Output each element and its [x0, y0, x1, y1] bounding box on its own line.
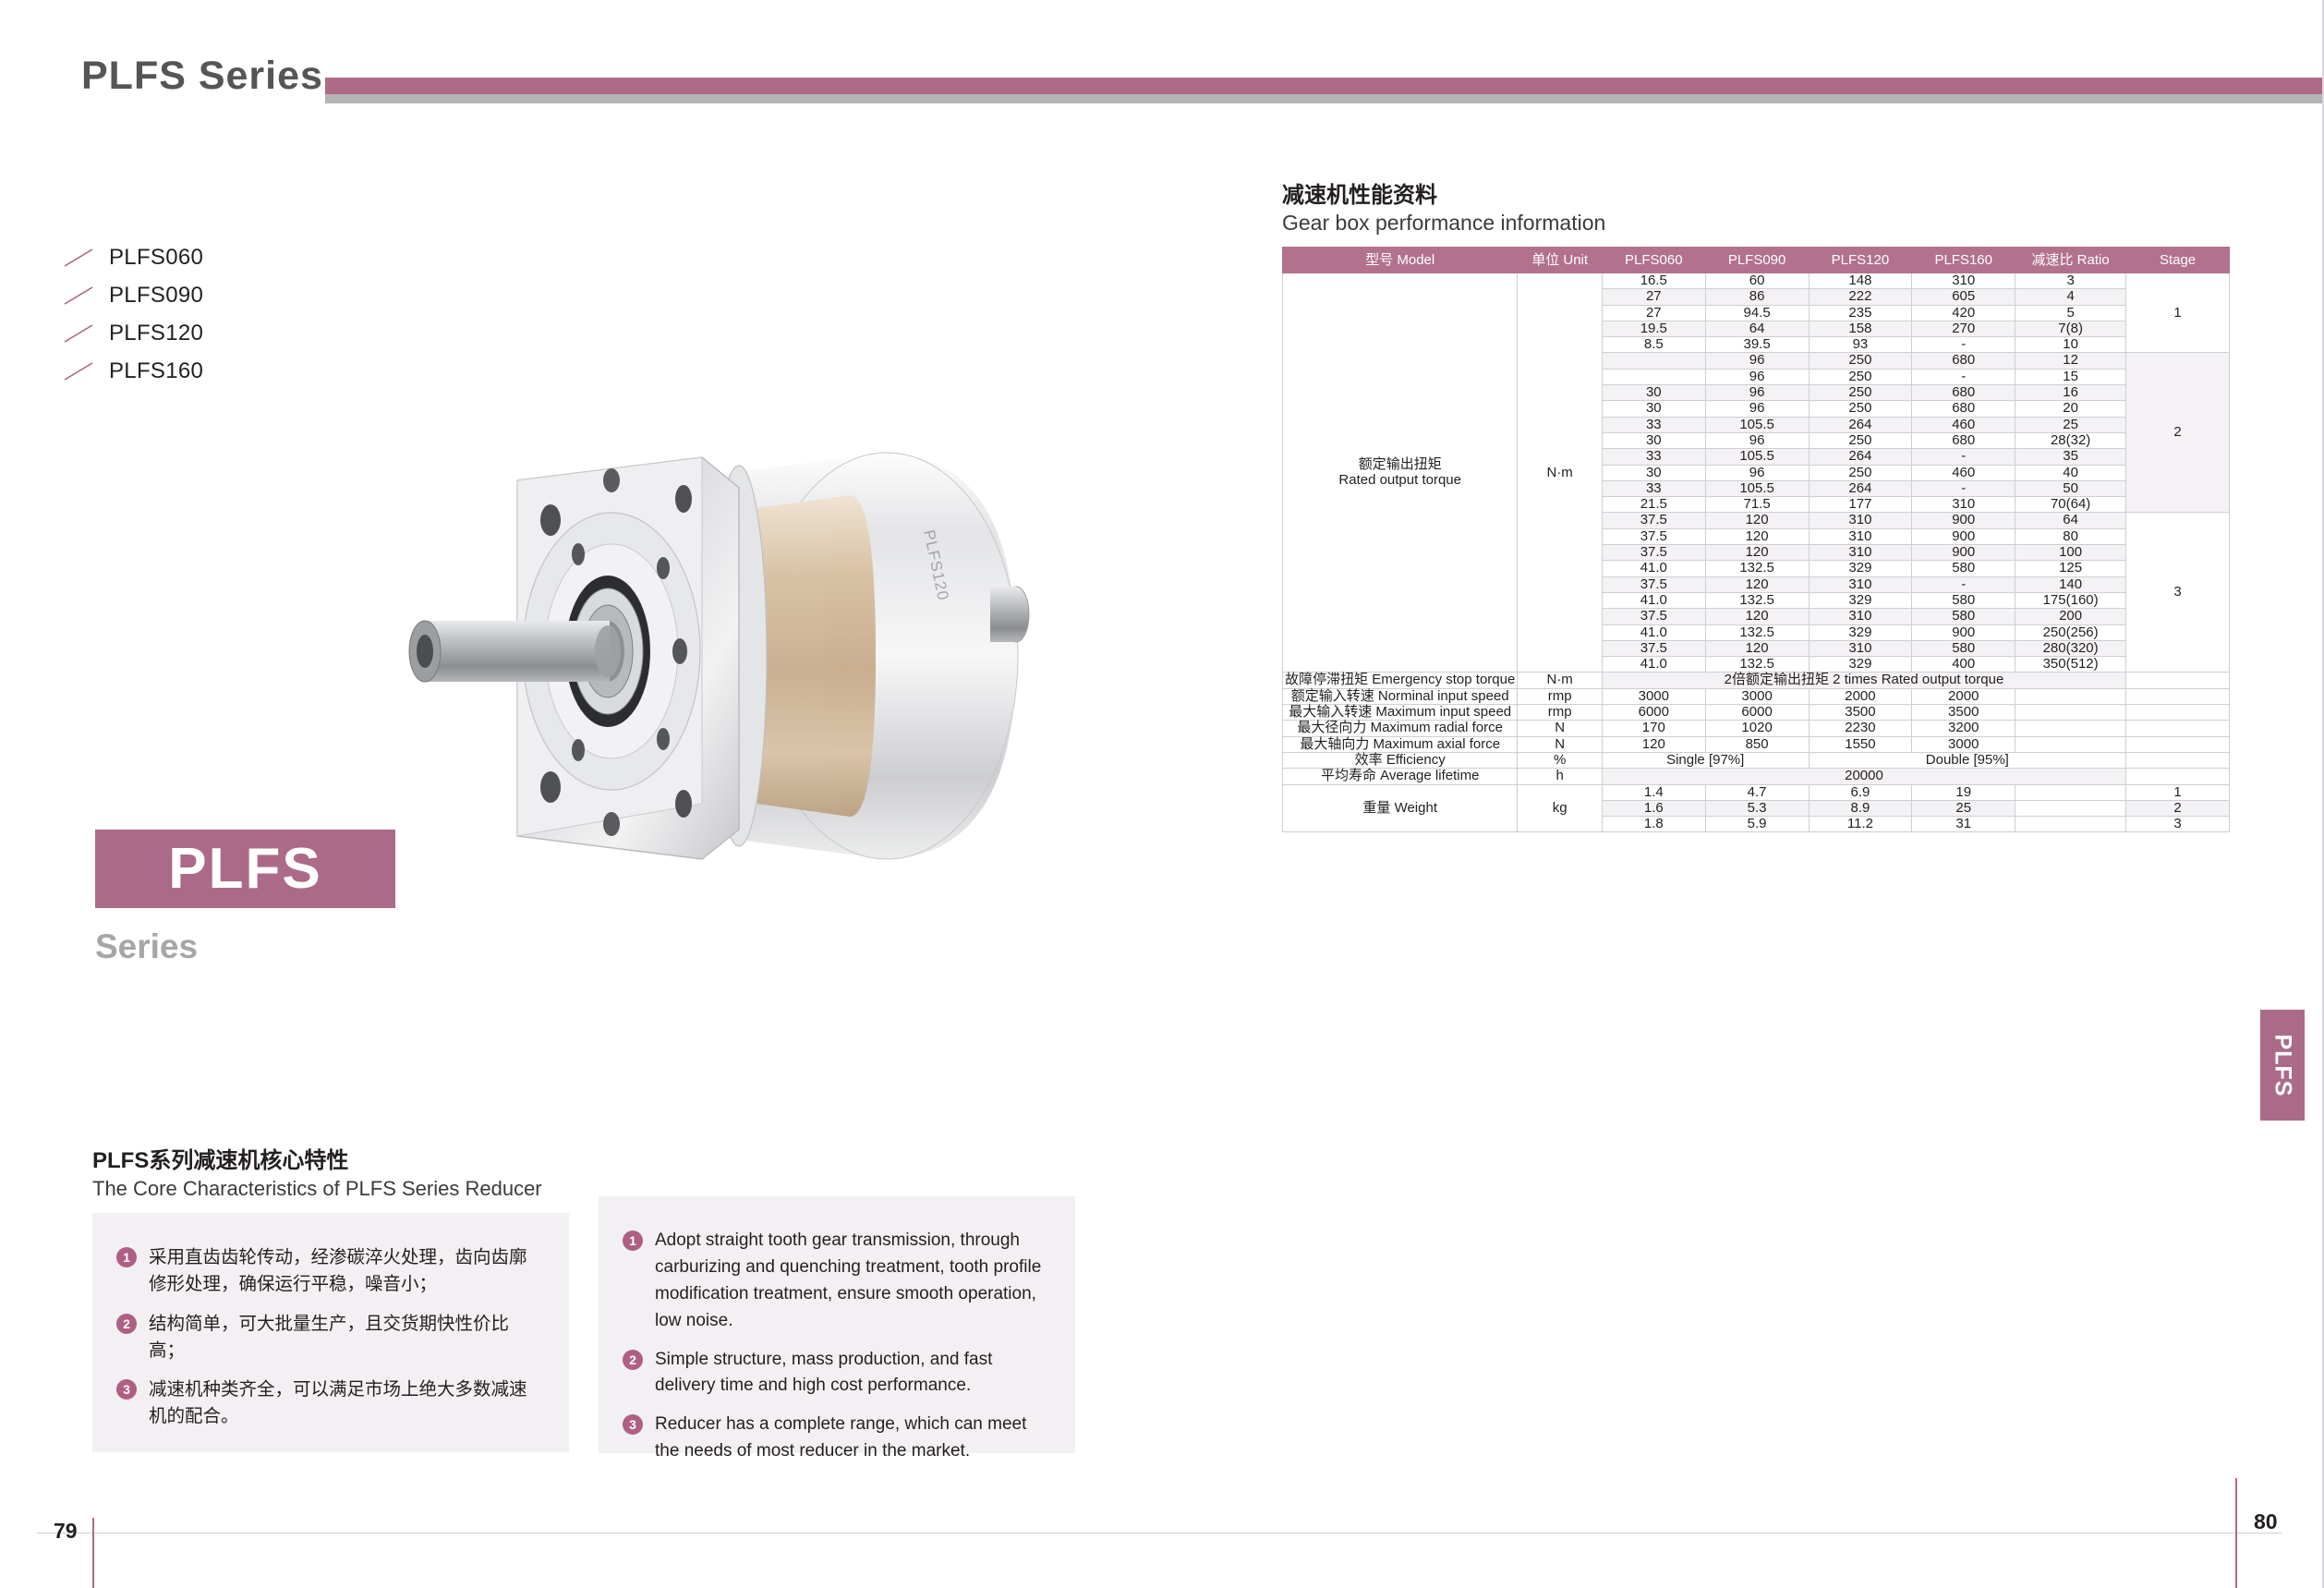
- cell-value: 2000: [1912, 688, 2015, 704]
- header-accent-bar-shadow: [325, 94, 2324, 103]
- cell-stage-empty: [2126, 736, 2230, 752]
- cell-ratio: 4: [2015, 289, 2126, 305]
- cell-plfs160: -: [1912, 449, 2015, 465]
- page-title: PLFS Series: [81, 54, 323, 99]
- cell-plfs160: 900: [1912, 545, 2015, 561]
- cell-stage-empty: [2126, 769, 2230, 784]
- row-label: 最大轴向力 Maximum axial force: [1283, 736, 1518, 752]
- cell-plfs090: 86: [1705, 289, 1809, 305]
- cell-plfs160: 680: [1912, 353, 2015, 369]
- feature-item: 2结构简单，可大批量生产，且交货期快性价比高；: [116, 1311, 543, 1365]
- cell-ratio: 28(32): [2015, 432, 2126, 448]
- model-list-item-label: PLFS120: [109, 321, 203, 346]
- cell-weight-stage: 3: [2126, 817, 2230, 832]
- cell-ratio-empty: [2015, 800, 2126, 816]
- table-row: 最大径向力 Maximum radial forceN1701020223032…: [1283, 721, 2230, 736]
- slash-icon: [63, 248, 94, 268]
- cell-plfs160: 680: [1912, 401, 2015, 417]
- row-label-en: Rated output torque: [1283, 473, 1517, 488]
- column-header-0: 型号 Model: [1283, 248, 1518, 273]
- row-label: 最大输入转速 Maximum input speed: [1283, 705, 1518, 721]
- row-label-rated-output-torque: 额定输出扭矩Rated output torque: [1283, 273, 1518, 673]
- gearbox-section-title-en: Gear box performance information: [1282, 211, 1605, 236]
- cell-plfs060: [1602, 369, 1705, 384]
- row-unit: h: [1518, 769, 1602, 784]
- cell-value: 3000: [1602, 688, 1705, 704]
- cell-stage-empty: [2126, 688, 2230, 704]
- catalog-page: PLFS Series PLFS060PLFS090PLFS120PLFS160: [0, 0, 2324, 1588]
- feature-text: Reducer has a complete range, which can …: [655, 1412, 1049, 1465]
- feature-item: 3减速机种类齐全，可以满足市场上绝大多数减速机的配合。: [116, 1376, 543, 1431]
- cell-ratio-empty: [2015, 736, 2126, 752]
- cell-plfs060: 30: [1602, 432, 1705, 448]
- cell-plfs120: 148: [1809, 273, 1912, 289]
- cell-plfs090: 105.5: [1705, 480, 1809, 496]
- product-photo: PLFS120: [369, 370, 1118, 942]
- cell-plfs090: 96: [1705, 353, 1809, 369]
- cell-plfs060: 27: [1602, 289, 1705, 305]
- cell-plfs160: 580: [1912, 561, 2015, 576]
- table-row: 额定输入转速 Norminal input speedrmp3000300020…: [1283, 688, 2230, 704]
- row-unit: %: [1518, 752, 1602, 768]
- cell-stage-empty: [2126, 705, 2230, 721]
- model-list: PLFS060PLFS090PLFS120PLFS160: [63, 238, 368, 390]
- cell-ratio: 12: [2015, 353, 2126, 369]
- cell-value: 170: [1602, 721, 1705, 736]
- cell-value: 2230: [1809, 721, 1912, 736]
- gearbox-performance-table: 型号 Model单位 UnitPLFS060PLFS090PLFS120PLFS…: [1282, 247, 2230, 832]
- cell-efficiency-single: Single [97%]: [1602, 752, 1809, 768]
- cell-plfs090: 96: [1705, 385, 1809, 401]
- model-list-item[interactable]: PLFS120: [63, 314, 368, 352]
- feature-text: 减速机种类齐全，可以满足市场上绝大多数减速机的配合。: [149, 1376, 543, 1431]
- cell-plfs090: 120: [1705, 528, 1809, 544]
- cell-stage-empty: [2126, 673, 2230, 688]
- cell-value: 6000: [1602, 705, 1705, 721]
- cell-plfs060: 33: [1602, 480, 1705, 496]
- cell-plfs090: 105.5: [1705, 449, 1809, 465]
- model-list-item-label: PLFS090: [109, 283, 203, 309]
- cell-plfs090: 120: [1705, 513, 1809, 528]
- cell-plfs060: 30: [1602, 401, 1705, 417]
- column-header-7: Stage: [2126, 248, 2230, 273]
- cell-plfs120: 329: [1809, 592, 1912, 608]
- cell-plfs160: 680: [1912, 385, 2015, 401]
- cell-plfs120: 250: [1809, 432, 1912, 448]
- cell-value: 3500: [1809, 705, 1912, 721]
- cell-plfs160: 400: [1912, 657, 2015, 673]
- footer-divider-left: [92, 1518, 94, 1588]
- cell-value: 6000: [1705, 705, 1809, 721]
- cell-plfs160: 580: [1912, 592, 2015, 608]
- cell-plfs120: 310: [1809, 545, 1912, 561]
- feature-item: 1采用直齿齿轮传动，经渗碳淬火处理，齿向齿廓修形处理，确保运行平稳，噪音小；: [116, 1244, 543, 1299]
- plfs-badge-label: PLFS: [168, 836, 321, 902]
- footer-rule: [37, 1533, 2282, 1533]
- row-label: 效率 Efficiency: [1283, 752, 1518, 768]
- row-label: 平均寿命 Average lifetime: [1283, 769, 1518, 784]
- cell-weight-value: 11.2: [1809, 817, 1912, 832]
- plfs-badge-subtitle: Series: [95, 927, 198, 966]
- row-label: 故障停滞扭矩 Emergency stop torque: [1283, 673, 1518, 688]
- feature-text: Simple structure, mass production, and f…: [655, 1347, 1049, 1400]
- cell-stage: 3: [2126, 513, 2230, 673]
- feature-number-badge: 3: [623, 1414, 643, 1435]
- cell-ratio-empty: [2015, 784, 2126, 800]
- cell-plfs120: 158: [1809, 321, 1912, 336]
- cell-plfs090: 132.5: [1705, 624, 1809, 640]
- table-row: 额定输出扭矩Rated output torqueN·m16.560148310…: [1283, 273, 2230, 289]
- cell-plfs120: 310: [1809, 528, 1912, 544]
- cell-plfs060: 41.0: [1602, 561, 1705, 576]
- cell-ratio: 100: [2015, 545, 2126, 561]
- cell-ratio-empty: [2015, 817, 2126, 832]
- model-list-item[interactable]: PLFS090: [63, 276, 368, 314]
- cell-plfs120: 222: [1809, 289, 1912, 305]
- table-header-row: 型号 Model单位 UnitPLFS060PLFS090PLFS120PLFS…: [1283, 248, 2230, 273]
- column-header-6: 减速比 Ratio: [2015, 248, 2126, 273]
- cell-ratio: 15: [2015, 369, 2126, 384]
- cell-efficiency-double: Double [95%]: [1809, 752, 2126, 768]
- cell-value: 2000: [1809, 688, 1912, 704]
- cell-plfs160: 605: [1912, 289, 2015, 305]
- cell-plfs160: -: [1912, 480, 2015, 496]
- cell-plfs060: 8.5: [1602, 337, 1705, 353]
- cell-plfs090: 120: [1705, 545, 1809, 561]
- cell-plfs160: 460: [1912, 417, 2015, 432]
- cell-plfs090: 132.5: [1705, 561, 1809, 576]
- cell-ratio: 7(8): [2015, 321, 2126, 336]
- cell-weight-value: 8.9: [1809, 800, 1912, 816]
- plfs-badge: PLFS: [95, 830, 395, 908]
- cell-plfs160: 270: [1912, 321, 2015, 336]
- cell-plfs060: 41.0: [1602, 657, 1705, 673]
- cell-plfs060: 37.5: [1602, 528, 1705, 544]
- cell-weight-value: 5.9: [1705, 817, 1809, 832]
- cell-plfs090: 132.5: [1705, 592, 1809, 608]
- cell-ratio: 25: [2015, 417, 2126, 432]
- cell-stage-empty: [2126, 752, 2230, 768]
- cell-weight-value: 5.3: [1705, 800, 1809, 816]
- feature-number-badge: 2: [623, 1350, 643, 1370]
- cell-plfs120: 235: [1809, 305, 1912, 321]
- slash-icon: [63, 285, 94, 306]
- cell-ratio: 70(64): [2015, 497, 2126, 513]
- cell-plfs160: 580: [1912, 609, 2015, 624]
- column-header-4: PLFS120: [1809, 248, 1912, 273]
- cell-plfs120: 250: [1809, 465, 1912, 480]
- table-row: 重量 Weightkg1.44.76.9191: [1283, 784, 2230, 800]
- column-header-5: PLFS160: [1912, 248, 2015, 273]
- cell-plfs090: 64: [1705, 321, 1809, 336]
- feature-number-badge: 3: [116, 1379, 137, 1400]
- cell-plfs120: 264: [1809, 417, 1912, 432]
- cell-plfs060: [1602, 353, 1705, 369]
- table-header: 型号 Model单位 UnitPLFS060PLFS090PLFS120PLFS…: [1283, 248, 2230, 273]
- column-header-2: PLFS060: [1602, 248, 1705, 273]
- table-row: 效率 Efficiency%Single [97%]Double [95%]: [1283, 752, 2230, 768]
- cell-weight-stage: 2: [2126, 800, 2230, 816]
- feature-item: 2Simple structure, mass production, and …: [623, 1347, 1049, 1400]
- cell-plfs060: 41.0: [1602, 592, 1705, 608]
- cell-ratio-empty: [2015, 688, 2126, 704]
- feature-number-badge: 1: [116, 1247, 137, 1267]
- cell-plfs090: 71.5: [1705, 497, 1809, 513]
- cell-plfs120: 329: [1809, 624, 1912, 640]
- cell-plfs090: 96: [1705, 369, 1809, 384]
- cell-plfs160: -: [1912, 576, 2015, 592]
- cell-plfs060: 41.0: [1602, 624, 1705, 640]
- cell-plfs120: 310: [1809, 513, 1912, 528]
- cell-plfs090: 132.5: [1705, 657, 1809, 673]
- cell-plfs120: 310: [1809, 609, 1912, 624]
- cell-plfs060: 21.5: [1602, 497, 1705, 513]
- feature-box-english: 1Adopt straight tooth gear transmission,…: [599, 1196, 1075, 1453]
- cell-plfs120: 250: [1809, 353, 1912, 369]
- cell-plfs160: -: [1912, 369, 2015, 384]
- row-label-cn: 额定输出扭矩: [1283, 457, 1517, 472]
- cell-plfs160: 310: [1912, 497, 2015, 513]
- cell-span-note: 2倍额定输出扭矩 2 times Rated output torque: [1602, 673, 2125, 688]
- cell-plfs060: 33: [1602, 449, 1705, 465]
- cell-plfs060: 30: [1602, 385, 1705, 401]
- feature-box-chinese: 1采用直齿齿轮传动，经渗碳淬火处理，齿向齿廓修形处理，确保运行平稳，噪音小；2结…: [92, 1213, 569, 1452]
- cell-plfs120: 329: [1809, 561, 1912, 576]
- cell-plfs160: 900: [1912, 624, 2015, 640]
- cell-plfs060: 37.5: [1602, 609, 1705, 624]
- cell-plfs120: 264: [1809, 480, 1912, 496]
- cell-plfs120: 250: [1809, 369, 1912, 384]
- cell-ratio: 350(512): [2015, 657, 2126, 673]
- table-row: 故障停滞扭矩 Emergency stop torqueN·m2倍额定输出扭矩 …: [1283, 673, 2230, 688]
- cell-plfs160: -: [1912, 337, 2015, 353]
- slash-icon: [63, 323, 94, 344]
- cell-plfs160: 900: [1912, 528, 2015, 544]
- cell-ratio: 3: [2015, 273, 2126, 289]
- core-characteristics-title-cn: PLFS系列减速机核心特性: [92, 1142, 348, 1174]
- cell-plfs160: 460: [1912, 465, 2015, 480]
- cell-plfs160: 900: [1912, 513, 2015, 528]
- cell-plfs060: 16.5: [1602, 273, 1705, 289]
- cell-plfs090: 94.5: [1705, 305, 1809, 321]
- cell-plfs060: 27: [1602, 305, 1705, 321]
- row-label: 最大径向力 Maximum radial force: [1283, 721, 1518, 736]
- cell-plfs120: 329: [1809, 657, 1912, 673]
- feature-item: 3Reducer has a complete range, which can…: [623, 1412, 1049, 1465]
- cell-plfs090: 96: [1705, 465, 1809, 480]
- side-tab-plfs[interactable]: PLFS: [2260, 1010, 2305, 1121]
- cell-plfs120: 264: [1809, 449, 1912, 465]
- cell-plfs060: 37.5: [1602, 640, 1705, 656]
- cell-ratio: 50: [2015, 480, 2126, 496]
- row-label: 额定输入转速 Norminal input speed: [1283, 688, 1518, 704]
- cell-ratio: 16: [2015, 385, 2126, 401]
- cell-value: 3000: [1705, 688, 1809, 704]
- column-header-3: PLFS090: [1705, 248, 1809, 273]
- cell-plfs060: 37.5: [1602, 545, 1705, 561]
- model-list-item-label: PLFS060: [109, 245, 203, 271]
- cell-value: 1550: [1809, 736, 1912, 752]
- row-unit: N: [1518, 721, 1602, 736]
- cell-plfs120: 310: [1809, 640, 1912, 656]
- cell-stage: 2: [2126, 353, 2230, 513]
- cell-weight-value: 4.7: [1705, 784, 1809, 800]
- cell-value: 120: [1602, 736, 1705, 752]
- feature-number-badge: 1: [623, 1230, 643, 1251]
- page-number-left: 79: [54, 1519, 78, 1544]
- cell-plfs090: 120: [1705, 576, 1809, 592]
- feature-text: 采用直齿齿轮传动，经渗碳淬火处理，齿向齿廓修形处理，确保运行平稳，噪音小；: [149, 1244, 543, 1299]
- cell-ratio: 64: [2015, 513, 2126, 528]
- cell-plfs090: 105.5: [1705, 417, 1809, 432]
- gearbox-section-title-cn: 减速机性能资料: [1282, 176, 1437, 209]
- cell-value: 3000: [1912, 736, 2015, 752]
- cell-ratio: 20: [2015, 401, 2126, 417]
- cell-value: 1020: [1705, 721, 1809, 736]
- footer-divider-right: [2235, 1478, 2237, 1588]
- cell-plfs160: 420: [1912, 305, 2015, 321]
- row-unit: rmp: [1518, 688, 1602, 704]
- cell-ratio-empty: [2015, 705, 2126, 721]
- row-unit: N·m: [1518, 273, 1602, 673]
- cell-ratio-empty: [2015, 721, 2126, 736]
- cell-value: 3200: [1912, 721, 2015, 736]
- cell-weight-value: 1.4: [1602, 784, 1705, 800]
- cell-weight-value: 19: [1912, 784, 2015, 800]
- table-body: 额定输出扭矩Rated output torqueN·m16.560148310…: [1283, 273, 2230, 832]
- feature-item: 1Adopt straight tooth gear transmission,…: [623, 1228, 1049, 1335]
- cell-plfs060: 37.5: [1602, 513, 1705, 528]
- core-characteristics-title-en: The Core Characteristics of PLFS Series …: [92, 1177, 542, 1201]
- model-list-item[interactable]: PLFS160: [63, 352, 368, 390]
- feature-number-badge: 2: [116, 1314, 137, 1334]
- cell-ratio: 175(160): [2015, 592, 2126, 608]
- cell-plfs160: 680: [1912, 432, 2015, 448]
- cell-plfs090: 120: [1705, 640, 1809, 656]
- header-accent-bar: [325, 78, 2324, 94]
- cell-ratio: 40: [2015, 465, 2126, 480]
- cell-plfs160: 310: [1912, 273, 2015, 289]
- column-header-1: 单位 Unit: [1518, 248, 1602, 273]
- model-list-item[interactable]: PLFS060: [63, 238, 368, 276]
- cell-plfs120: 93: [1809, 337, 1912, 353]
- cell-stage: 1: [2126, 273, 2230, 353]
- cell-plfs120: 310: [1809, 576, 1912, 592]
- cell-ratio: 125: [2015, 561, 2126, 576]
- cell-weight-value: 1.8: [1602, 817, 1705, 832]
- cell-weight-stage: 1: [2126, 784, 2230, 800]
- gear-reducer-illustration: PLFS120: [369, 370, 1118, 942]
- cell-value: 3500: [1912, 705, 2015, 721]
- feature-text: Adopt straight tooth gear transmission, …: [655, 1228, 1049, 1335]
- cell-plfs060: 33: [1602, 417, 1705, 432]
- cell-plfs090: 96: [1705, 401, 1809, 417]
- cell-ratio: 80: [2015, 528, 2126, 544]
- cell-value: 850: [1705, 736, 1809, 752]
- cell-span-note: 20000: [1602, 769, 2125, 784]
- cell-ratio: 200: [2015, 609, 2126, 624]
- side-tab-label: PLFS: [2270, 1034, 2296, 1097]
- row-unit: N: [1518, 736, 1602, 752]
- slash-icon: [63, 361, 94, 382]
- cell-plfs090: 120: [1705, 609, 1809, 624]
- cell-plfs060: 30: [1602, 465, 1705, 480]
- cell-plfs120: 250: [1809, 385, 1912, 401]
- feature-text: 结构简单，可大批量生产，且交货期快性价比高；: [149, 1311, 543, 1365]
- cell-weight-value: 6.9: [1809, 784, 1912, 800]
- cell-plfs060: 37.5: [1602, 576, 1705, 592]
- table-row: 最大轴向力 Maximum axial forceN12085015503000: [1283, 736, 2230, 752]
- cell-weight-value: 31: [1912, 817, 2015, 832]
- cell-ratio: 10: [2015, 337, 2126, 353]
- cell-plfs120: 250: [1809, 401, 1912, 417]
- page-number-right: 80: [2254, 1509, 2278, 1534]
- row-unit: N·m: [1518, 673, 1602, 688]
- table-row: 最大输入转速 Maximum input speedrmp60006000350…: [1283, 705, 2230, 721]
- cell-ratio: 35: [2015, 449, 2126, 465]
- cell-plfs120: 177: [1809, 497, 1912, 513]
- cell-plfs090: 96: [1705, 432, 1809, 448]
- cell-plfs090: 60: [1705, 273, 1809, 289]
- cell-plfs060: 19.5: [1602, 321, 1705, 336]
- cell-ratio: 280(320): [2015, 640, 2126, 656]
- row-unit: rmp: [1518, 705, 1602, 721]
- cell-ratio: 5: [2015, 305, 2126, 321]
- cell-plfs160: 580: [1912, 640, 2015, 656]
- cell-ratio: 250(256): [2015, 624, 2126, 640]
- cell-weight-value: 1.6: [1602, 800, 1705, 816]
- cell-plfs090: 39.5: [1705, 337, 1809, 353]
- cell-ratio: 140: [2015, 576, 2126, 592]
- table-row: 平均寿命 Average lifetimeh20000: [1283, 769, 2230, 784]
- row-label-weight: 重量 Weight: [1283, 784, 1518, 832]
- cell-weight-value: 25: [1912, 800, 2015, 816]
- row-unit-weight: kg: [1518, 784, 1602, 832]
- model-list-item-label: PLFS160: [109, 358, 203, 384]
- cell-stage-empty: [2126, 721, 2230, 736]
